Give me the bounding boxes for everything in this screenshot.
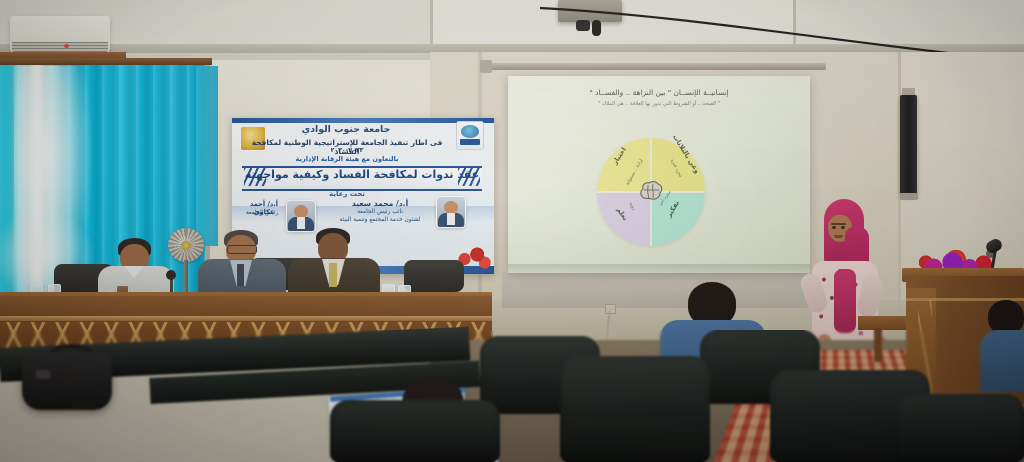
bench-leg xyxy=(874,328,882,362)
scarf-tail xyxy=(834,269,856,333)
banner-under-patronage: تحت رعاية xyxy=(240,190,454,198)
eyeglasses-icon xyxy=(227,245,257,254)
screen-roller-rail xyxy=(486,63,826,70)
torso xyxy=(980,330,1024,392)
necktie xyxy=(329,263,337,287)
slide-subtitle: " الصحة .. أو الشروط التي تدور بها العلا… xyxy=(520,101,798,107)
fan-hub-icon xyxy=(181,241,191,250)
microphone-icon xyxy=(166,270,176,280)
brain-icon xyxy=(639,180,664,202)
banner-line-3: بالتعاون مع هيئة الرقابة الإدارية xyxy=(240,155,454,163)
panelist-grey-suit-glasses xyxy=(196,230,288,300)
audience-blue-shirt-right xyxy=(980,300,1024,390)
curtain-rod xyxy=(0,58,212,65)
eye xyxy=(841,226,845,229)
banner-role-right-2: لشئون خدمة المجتمع وتنمية البيئة xyxy=(322,217,438,223)
eyebrow xyxy=(831,223,846,225)
black-handbag xyxy=(22,352,112,410)
authority-emblem-icon xyxy=(456,121,484,150)
banner-name-right: أ.د/ محمد سعيد xyxy=(326,199,434,208)
slide-title: إنسانيــة الإنســان " بين النزاهة .. وال… xyxy=(516,88,802,97)
screen-shadow xyxy=(508,264,810,276)
auditorium-chair xyxy=(560,356,710,462)
banner-university-name: جامعة جنوب الوادي xyxy=(246,124,446,135)
conference-hall-photo: إنسانيــة الإنســان " بين النزاهة .. وال… xyxy=(0,0,1024,462)
banner-portrait-right xyxy=(436,196,466,228)
window-curtain-right-panel xyxy=(196,66,218,246)
head xyxy=(988,300,1024,334)
speaker-bracket-bottom xyxy=(900,193,918,200)
eye xyxy=(832,226,836,229)
wall-speaker-icon xyxy=(900,95,917,195)
banner-role-left: رئيس الجامعة xyxy=(238,210,286,216)
necktie xyxy=(237,264,244,286)
air-conditioner-led-icon xyxy=(64,44,69,48)
auditorium-chair xyxy=(330,400,500,462)
panel-chair xyxy=(404,260,464,292)
speaker-bracket-top xyxy=(902,88,915,95)
bag-buckle xyxy=(36,370,50,379)
banner-line-2: ٢٠٢٣-٢٠٣٠ xyxy=(240,147,454,154)
panelist-light-shirt xyxy=(92,238,180,300)
panelist-dark-suit-tie xyxy=(286,228,382,300)
panel-table-lip xyxy=(0,316,492,321)
banner-top-stripe xyxy=(232,118,494,123)
screen-rail-end-cap xyxy=(480,60,492,73)
banner-headline: عقد ندوات لمكافحة الفساد وكيفية مواجهته xyxy=(244,168,480,181)
auditorium-chair xyxy=(896,394,1024,462)
banner-role-right: نائب رئيس الجامعة xyxy=(326,209,434,215)
